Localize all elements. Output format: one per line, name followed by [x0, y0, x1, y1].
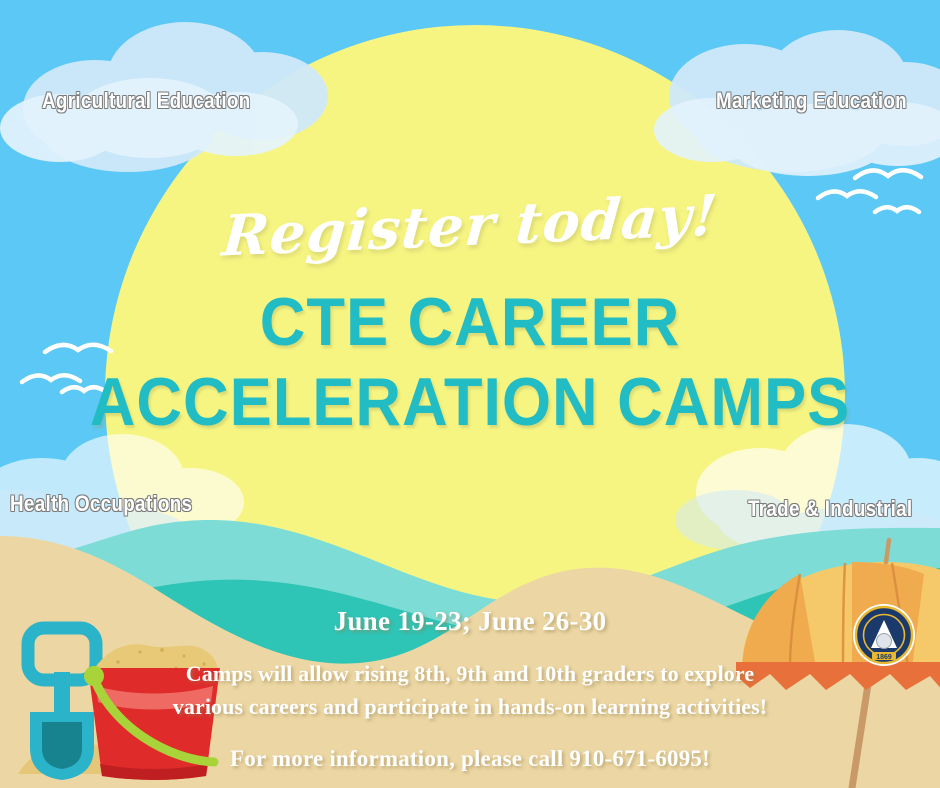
category-label-health: Health Occupations: [10, 491, 192, 517]
camp-description: Camps will allow rising 8th, 9th and 10t…: [0, 657, 940, 724]
camp-dates: June 19-23; June 26-30: [0, 606, 940, 637]
category-label-marketing: Marketing Education: [716, 88, 907, 114]
headline-block: Register today! CTE CAREER ACCELERATION …: [0, 196, 940, 442]
contact-info: For more information, please call 910-67…: [0, 746, 940, 772]
category-label-agricultural: Agricultural Education: [42, 88, 251, 114]
title-line-1: CTE CAREER: [33, 282, 907, 362]
title-line-2: ACCELERATION CAMPS: [33, 362, 907, 442]
camp-description-line-2: various careers and participate in hands…: [0, 690, 940, 723]
category-label-trade: Trade & Industrial: [748, 496, 912, 522]
info-block: June 19-23; June 26-30 Camps will allow …: [0, 606, 940, 772]
poster-canvas: 1869 Agricultural Education Marketing Ed…: [0, 0, 940, 788]
camp-description-line-1: Camps will allow rising 8th, 9th and 10t…: [0, 657, 940, 690]
umbrella-finial: [886, 540, 889, 562]
